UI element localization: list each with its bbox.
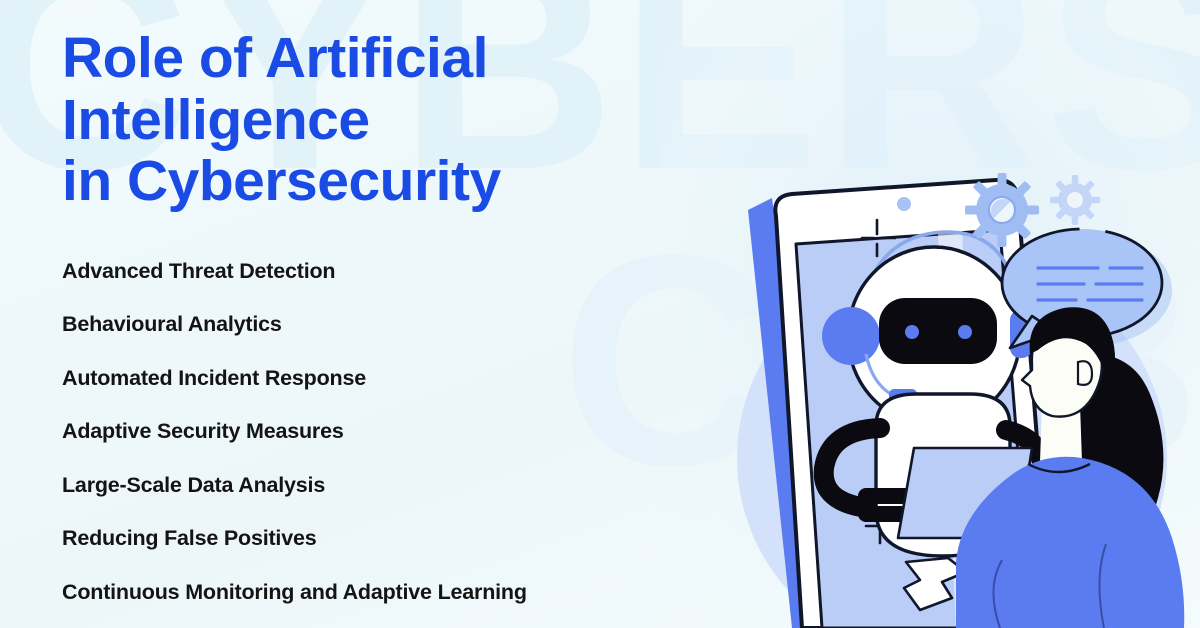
list-item: Advanced Threat Detection xyxy=(62,259,762,284)
phone-camera-icon xyxy=(897,197,911,211)
list-item: Automated Incident Response xyxy=(62,366,762,391)
page-title: Role of Artificial Intelligence in Cyber… xyxy=(62,28,762,213)
list-item: Continuous Monitoring and Adaptive Learn… xyxy=(62,580,762,605)
text-column: Role of Artificial Intelligence in Cyber… xyxy=(62,28,762,605)
list-item: Adaptive Security Measures xyxy=(62,419,762,444)
feature-list: Advanced Threat Detection Behavioural An… xyxy=(62,259,762,605)
list-item: Behavioural Analytics xyxy=(62,312,762,337)
robot-eye-left-icon xyxy=(905,325,919,339)
gear-small-icon xyxy=(1050,175,1100,225)
robot-eye-right-icon xyxy=(958,325,972,339)
robot-visor-shape xyxy=(879,298,997,364)
robot-ear-cup-left-shape xyxy=(822,307,880,365)
list-item: Reducing False Positives xyxy=(62,526,762,551)
page-title-line-1: Role of Artificial Intelligence xyxy=(62,26,488,152)
woman-ear-shape xyxy=(1078,361,1092,385)
gear-large-icon xyxy=(965,173,1039,247)
list-item: Large-Scale Data Analysis xyxy=(62,473,762,498)
banner-root: CYBERSE CYBER Role of Artificial Intelli… xyxy=(0,0,1200,628)
page-title-line-2: in Cybersecurity xyxy=(62,151,762,213)
